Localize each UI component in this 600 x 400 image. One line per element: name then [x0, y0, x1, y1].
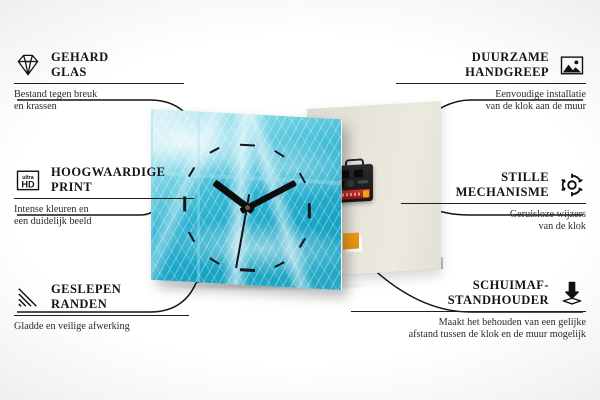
mechanism-detail: [354, 169, 363, 178]
feature-title: DUURZAME HANDGREEP: [465, 50, 549, 79]
feature-title: STILLE MECHANISME: [456, 170, 549, 199]
ultra-hd-icon: ultra HD: [14, 166, 42, 194]
feature-title: SCHUIMAF- STANDHOUDER: [448, 278, 549, 307]
hour-marker: [274, 150, 284, 158]
battery-positive-terminal: [363, 190, 369, 197]
infographic-canvas: GEHARD GLAS Bestand tegen breuk en krass…: [0, 0, 600, 400]
feature-description: Gladde en veilige afwerking: [14, 321, 189, 333]
picture-frame-icon: [558, 51, 586, 79]
feature-stille-mechanisme[interactable]: STILLE MECHANISME Geruisloze wijzers van…: [401, 170, 586, 234]
feature-hoogwaardige-print[interactable]: ultra HD HOOGWAARDIGE PRINT Intense kleu…: [14, 165, 194, 229]
divider: [14, 315, 189, 316]
hour-marker: [210, 258, 220, 266]
feature-schuimaf-standhouder[interactable]: SCHUIMAF- STANDHOUDER Maakt het behouden…: [351, 278, 586, 342]
mechanism-detail: [358, 180, 368, 184]
hour-marker: [240, 143, 255, 146]
hour-marker: [274, 262, 284, 269]
hour-marker: [299, 173, 306, 184]
divider: [396, 83, 586, 84]
feature-title: GEHARD GLAS: [51, 50, 109, 79]
feature-title: GESLEPEN RANDEN: [51, 282, 121, 311]
down-arrow-pad-icon: [558, 279, 586, 307]
divider: [351, 311, 586, 312]
hour-marker: [308, 203, 311, 218]
hour-marker: [240, 268, 255, 271]
foam-spacer-pad: [343, 233, 359, 250]
hour-marker: [210, 147, 220, 154]
divider: [14, 198, 194, 199]
divider: [401, 203, 586, 204]
clock-center-hub: [245, 205, 250, 210]
hour-marker: [299, 238, 306, 248]
feature-description: Geruisloze wijzers van de klok: [401, 209, 586, 234]
feature-description: Maakt het behouden van een gelijke afsta…: [351, 317, 586, 342]
feature-gehard-glas[interactable]: GEHARD GLAS Bestand tegen breuk en krass…: [14, 50, 184, 114]
feature-description: Bestand tegen breuk en krassen: [14, 89, 184, 114]
feature-description: Eenvoudige installatie van de klok aan d…: [396, 89, 586, 114]
feature-description: Intense kleuren en een duidelijk beeld: [14, 204, 194, 229]
feature-title: HOOGWAARDIGE PRINT: [51, 165, 165, 194]
hour-marker: [188, 231, 195, 242]
svg-text:HD: HD: [21, 179, 35, 189]
mechanism-dial: [347, 180, 354, 187]
diamond-icon: [14, 51, 42, 79]
divider: [14, 83, 184, 84]
feature-geslepen-randen[interactable]: GESLEPEN RANDEN Gladde en veilige afwerk…: [14, 282, 189, 333]
gear-icon: [558, 171, 586, 199]
feature-duurzame-handgreep[interactable]: DUURZAME HANDGREEP Eenvoudige installati…: [396, 50, 586, 114]
bevel-lines-icon: [14, 283, 42, 311]
